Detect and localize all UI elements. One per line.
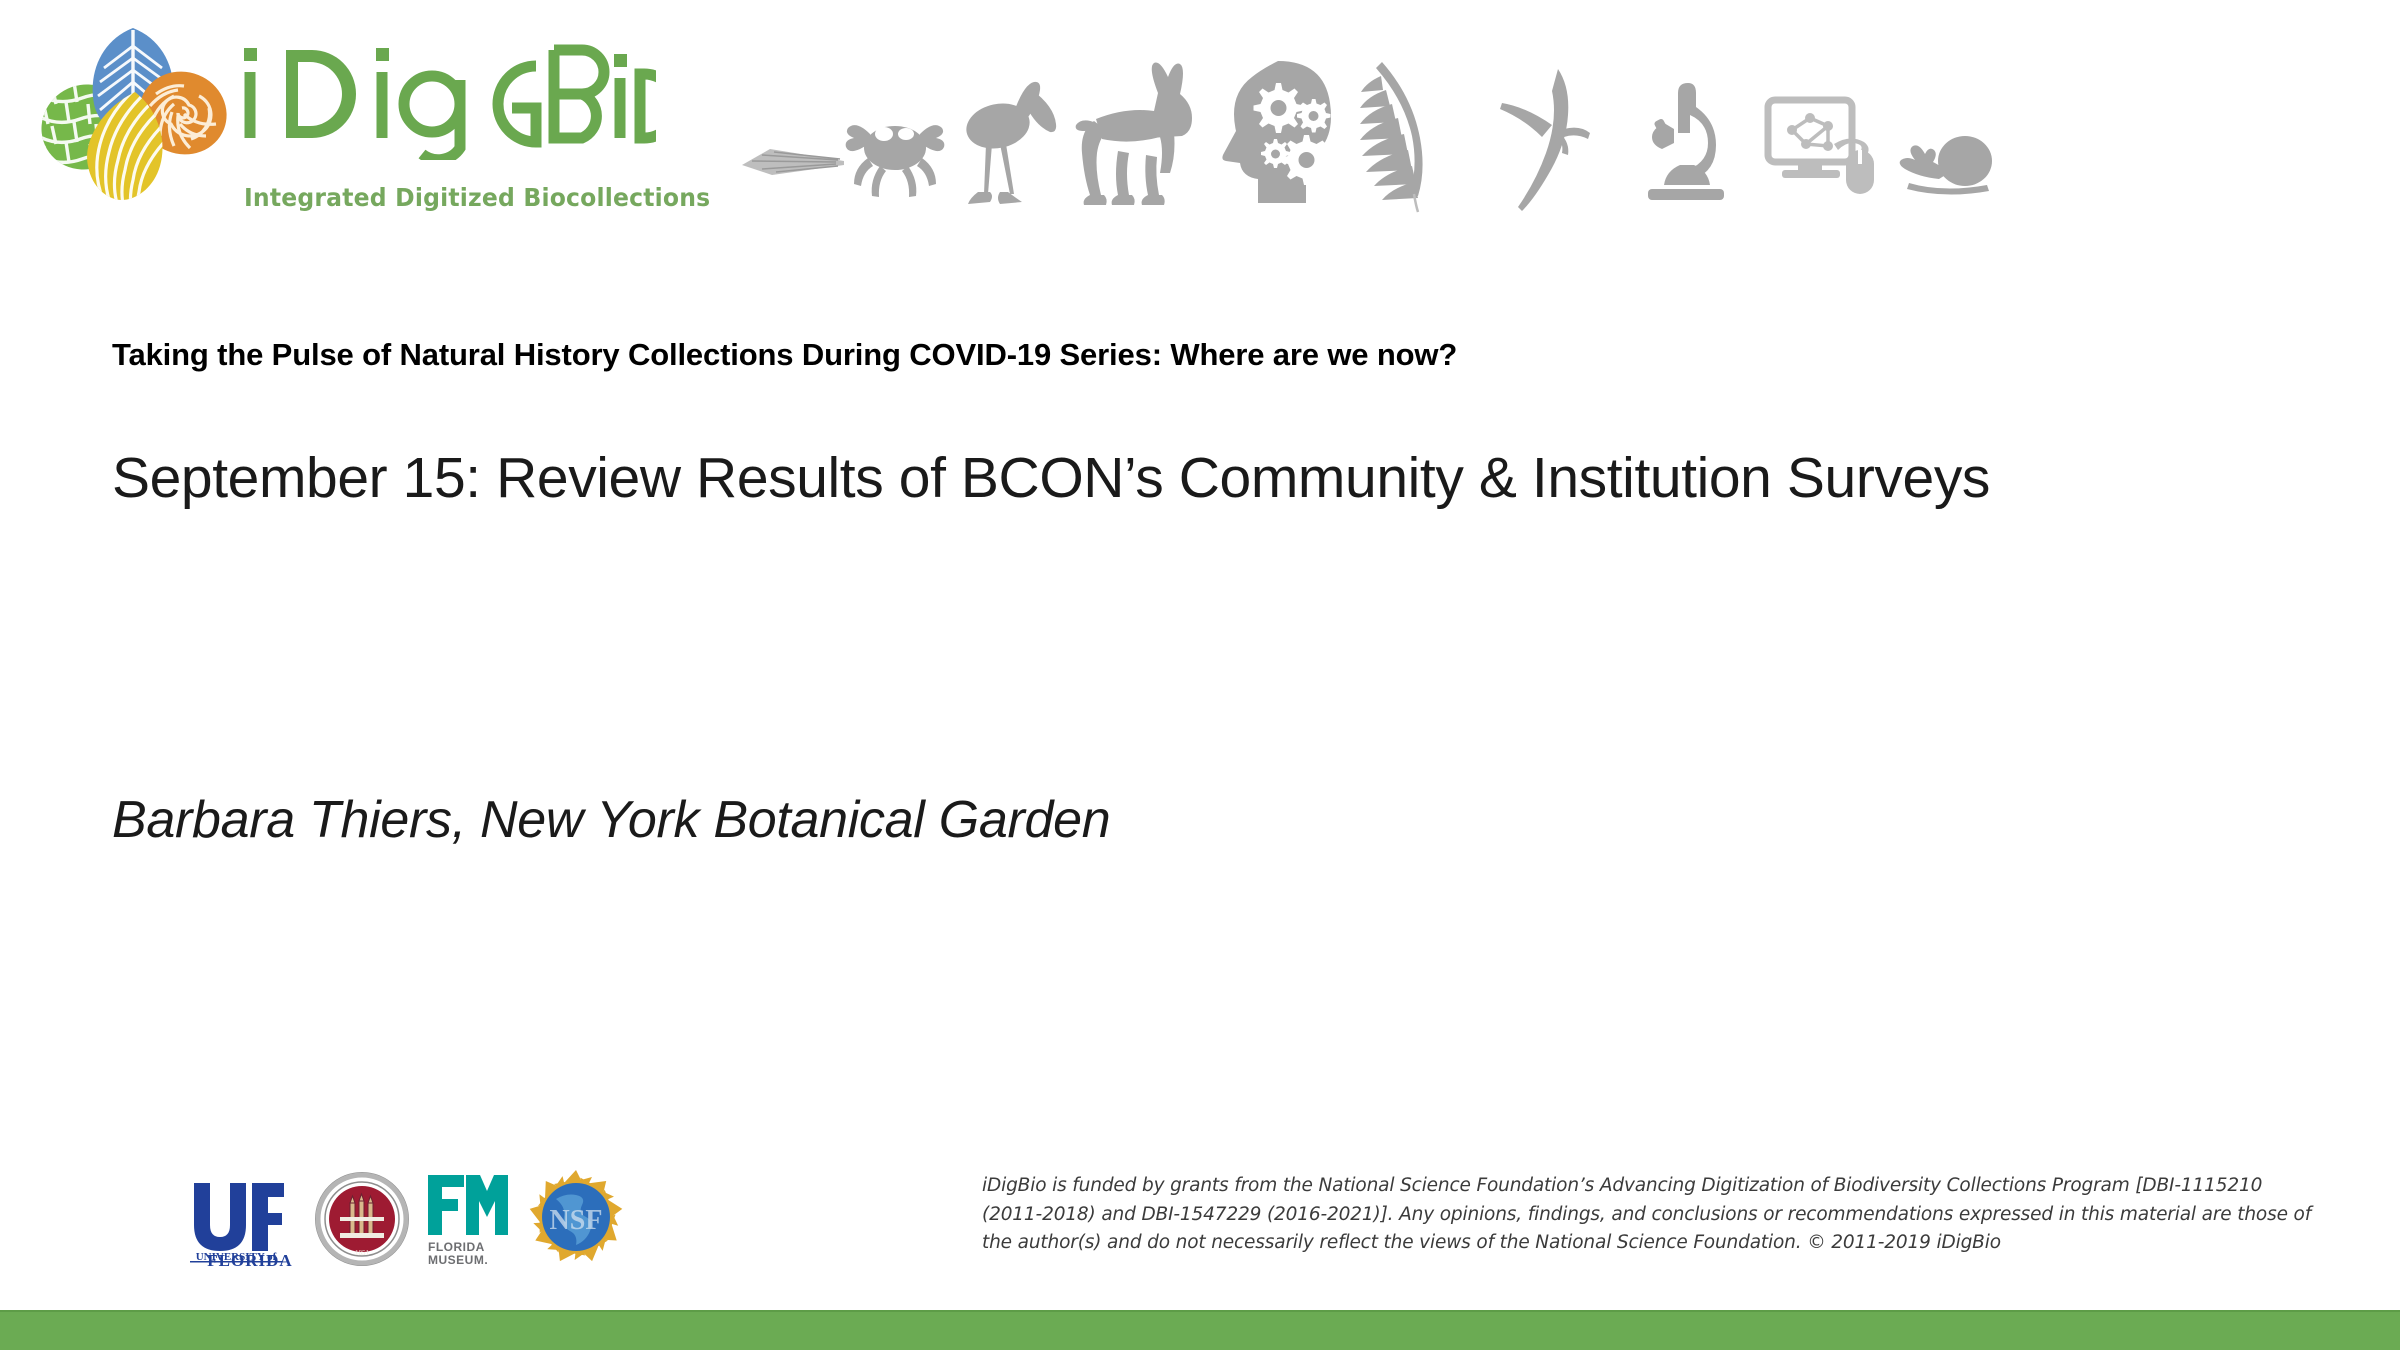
funding-statement: iDigBio is funded by grants from the Nat…	[982, 1172, 2312, 1258]
svg-text:NSF: NSF	[550, 1205, 603, 1236]
computer-mouse-icon	[1760, 92, 1885, 197]
microscope-icon	[1630, 79, 1740, 209]
organism-icon-strip	[700, 20, 2390, 215]
slide-header: Integrated Digitized Biocollections	[0, 0, 2400, 215]
florida-state-university-seal-logo: 1851	[314, 1171, 410, 1272]
svg-text:FLORIDA: FLORIDA	[428, 1240, 485, 1254]
national-science-foundation-logo: NSF	[526, 1167, 626, 1272]
footer-green-bar	[0, 1310, 2400, 1350]
crab-icon	[840, 100, 950, 205]
svg-text:MUSEUM.: MUSEUM.	[428, 1253, 488, 1267]
head-with-gears-icon	[1212, 57, 1342, 207]
snail-icon	[1895, 133, 2010, 195]
idigbio-wordmark	[236, 30, 656, 160]
presenter-name: Barbara Thiers, New York Botanical Garde…	[112, 790, 1110, 850]
florida-museum-logo: FLORIDA MUSEUM.	[424, 1169, 512, 1272]
sponsor-logo-row: UNIVERSITY of FLORIDA	[186, 1168, 626, 1272]
uf-florida-wordmark: FLORIDA	[200, 1167, 300, 1272]
idigbio-tagline: Integrated Digitized Biocollections	[244, 183, 710, 212]
fish-icon	[740, 131, 850, 187]
series-subtitle: Taking the Pulse of Natural History Coll…	[112, 337, 1457, 373]
stork-icon	[958, 74, 1068, 209]
idigbio-logo: Integrated Digitized Biocollections	[38, 18, 658, 208]
svg-text:1851: 1851	[355, 1249, 370, 1257]
fern-icon	[1348, 58, 1478, 213]
wolf-icon	[1074, 59, 1209, 211]
idigbio-petal-mark-icon	[38, 20, 228, 205]
slide-canvas: Integrated Digitized Biocollections	[0, 0, 2400, 1350]
svg-text:FLORIDA: FLORIDA	[207, 1251, 292, 1267]
page-title: September 15: Review Results of BCON’s C…	[112, 432, 2192, 525]
flying-bird-icon	[1490, 63, 1615, 213]
